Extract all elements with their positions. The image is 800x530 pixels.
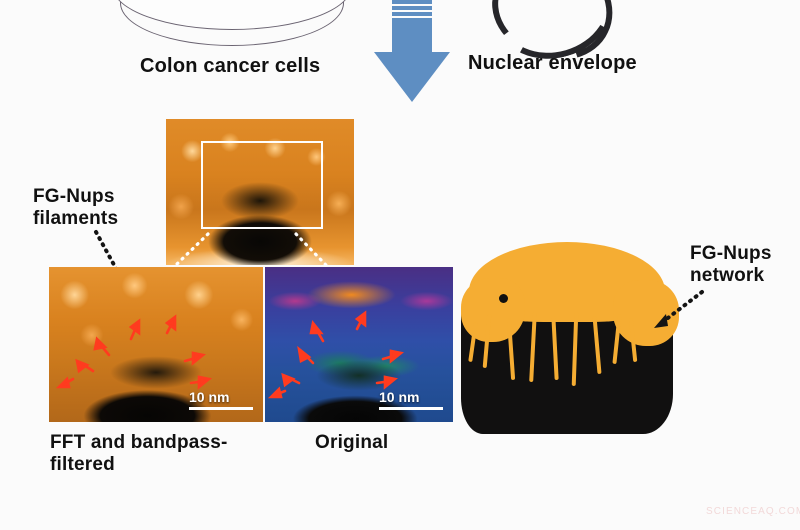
- npc-tuft-left: [461, 278, 525, 342]
- scale-bar-label: 10 nm: [189, 389, 253, 405]
- original-caption: Original: [315, 432, 388, 454]
- arrow-head: [374, 52, 450, 102]
- arrow-stripe: [392, 10, 432, 12]
- watermark: SCIENCEAQ.COM: [706, 506, 800, 517]
- arrow-stripe: [392, 4, 432, 6]
- arrow-stripe: [392, 16, 432, 18]
- petri-dish-icon: [112, 0, 350, 52]
- npc-pore-dot: [499, 294, 508, 303]
- scale-bar-line: [189, 407, 253, 410]
- nuclear-envelope-label: Nuclear envelope: [468, 52, 637, 76]
- fg-nups-network-label: FG-Nups network: [690, 243, 772, 288]
- fft-bandpass-caption: FFT and bandpass- filtered: [50, 432, 228, 477]
- fg-nups-network-pointer-icon: [648, 286, 710, 330]
- scale-bar: 10 nm: [189, 389, 253, 410]
- figure-canvas: Colon cancer cells Nuclear envelope FG-N…: [0, 0, 800, 530]
- scale-bar-label: 10 nm: [379, 389, 443, 405]
- afm-original-image: 10 nm: [265, 267, 453, 422]
- arrow-shaft: [392, 0, 432, 56]
- roi-rectangle: [201, 141, 323, 229]
- nuclear-pore-complex-model: [455, 246, 679, 434]
- fg-nups-filaments-label: FG-Nups filaments: [33, 186, 118, 231]
- ring-icon: [492, 0, 602, 46]
- scale-bar: 10 nm: [379, 389, 443, 410]
- scale-bar-line: [379, 407, 443, 410]
- colon-cancer-cells-label: Colon cancer cells: [140, 55, 320, 79]
- down-arrow-icon: [374, 0, 450, 105]
- afm-filtered-image: 10 nm: [49, 267, 263, 422]
